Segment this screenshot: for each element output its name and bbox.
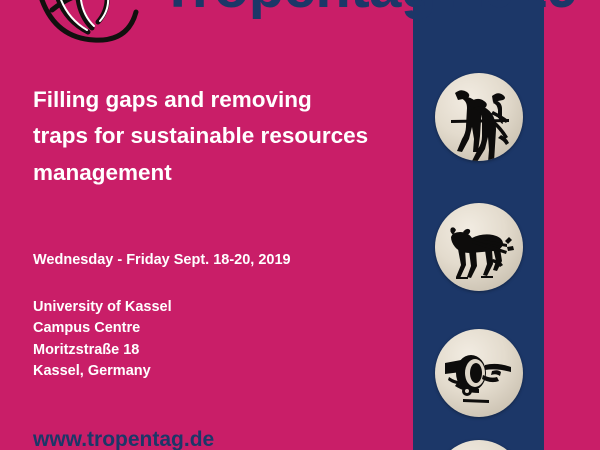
farmers-hoeing-field-photo [435,73,523,161]
venue-line-2: Campus Centre [33,318,172,339]
tropentag-globe-logo [30,0,150,66]
event-dateline: Wednesday - Friday Sept. 18-20, 2019 [33,252,291,268]
masthead-title: Tropentag 2019 [160,0,578,21]
venue-line-3: Moritzstraße 18 [33,340,172,361]
event-venue: University of Kassel Campus Centre Morit… [33,297,172,383]
headline-line-3: management [33,155,403,191]
conference-poster: Tropentag 2019 Filling gaps [0,0,600,450]
website-link[interactable]: www.tropentag.de [33,428,214,450]
headline-line-2: traps for sustainable resources [33,118,403,154]
poster-headline: Filling gaps and removing traps for sust… [33,82,403,191]
farm-machinery-photo [435,329,523,417]
headline-line-1: Filling gaps and removing [33,82,403,118]
oxen-plough-photo [435,203,523,291]
venue-line-4: Kassel, Germany [33,361,172,382]
venue-line-1: University of Kassel [33,297,172,318]
